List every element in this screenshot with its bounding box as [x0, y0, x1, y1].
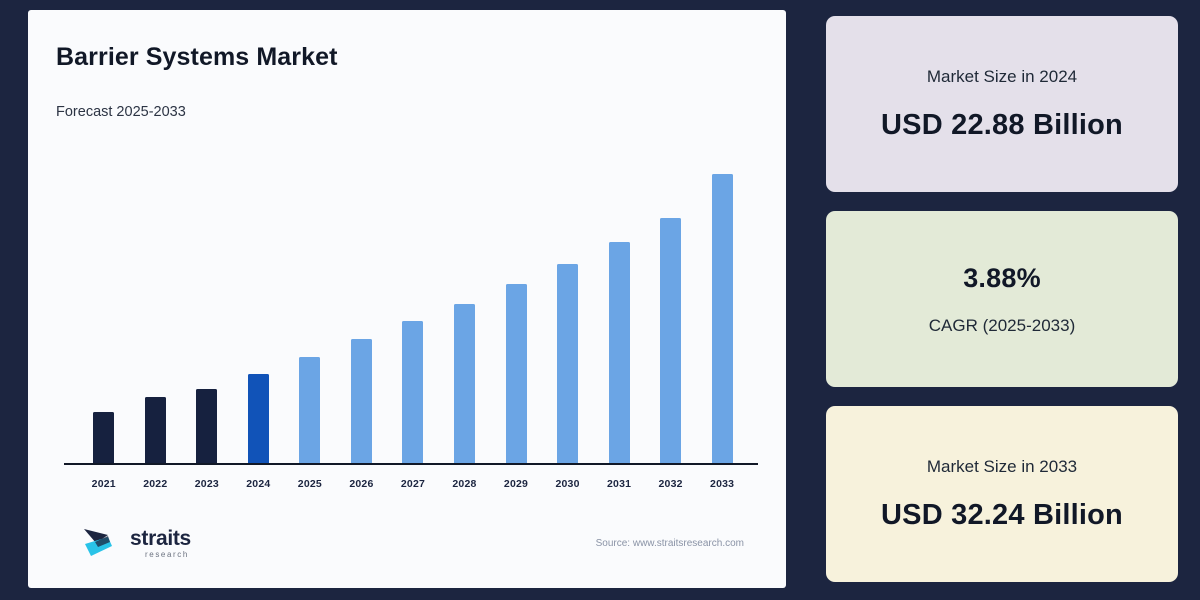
- bar-2024: [248, 374, 269, 464]
- bar-slot: [593, 130, 645, 465]
- x-tick-2033: 2033: [696, 478, 748, 490]
- bar-2025: [299, 357, 320, 464]
- stat-card-3: Market Size in 2033USD 32.24 Billion: [826, 406, 1178, 582]
- stat-card-value: USD 22.88 Billion: [881, 109, 1123, 142]
- bar-series: [78, 130, 748, 465]
- bar-slot: [439, 130, 491, 465]
- logo-name: straits: [130, 528, 191, 549]
- bar-2021: [93, 412, 114, 464]
- stat-cards-column: Market Size in 2024USD 22.88 Billion3.88…: [826, 10, 1178, 588]
- bar-2031: [609, 242, 630, 464]
- bar-2023: [196, 389, 217, 464]
- stat-card-value: 3.88%: [963, 263, 1041, 294]
- bar-2022: [145, 397, 166, 464]
- bar-slot: [490, 130, 542, 465]
- x-axis-tick-labels: 2021202220232024202520262027202820292030…: [78, 478, 748, 490]
- stat-card-1: Market Size in 2024USD 22.88 Billion: [826, 16, 1178, 192]
- x-tick-2026: 2026: [336, 478, 388, 490]
- page-title: Barrier Systems Market: [56, 44, 758, 72]
- bar-slot: [387, 130, 439, 465]
- infographic-root: Barrier Systems Market Forecast 2025-203…: [0, 0, 1200, 600]
- bar-slot: [645, 130, 697, 465]
- arrow-logo-icon: [82, 525, 122, 561]
- x-tick-2028: 2028: [439, 478, 491, 490]
- stat-card-label: Market Size in 2033: [927, 457, 1077, 477]
- bar-slot: [542, 130, 594, 465]
- bar-slot: [130, 130, 182, 465]
- logo-subtitle: research: [145, 551, 191, 559]
- x-tick-2025: 2025: [284, 478, 336, 490]
- bar-slot: [233, 130, 285, 465]
- bar-slot: [284, 130, 336, 465]
- chart-subtitle: Forecast 2025-2033: [56, 104, 758, 120]
- x-axis-line: [64, 463, 758, 466]
- bar-2032: [660, 218, 681, 464]
- logo-text: straits research: [130, 528, 191, 559]
- x-tick-2024: 2024: [233, 478, 285, 490]
- bar-2029: [506, 284, 527, 464]
- stat-card-2: 3.88%CAGR (2025-2033): [826, 211, 1178, 387]
- bar-2030: [557, 264, 578, 464]
- bar-slot: [336, 130, 388, 465]
- x-tick-2029: 2029: [490, 478, 542, 490]
- bar-slot: [696, 130, 748, 465]
- bar-2028: [454, 304, 475, 464]
- x-tick-2031: 2031: [593, 478, 645, 490]
- bar-2027: [402, 321, 423, 464]
- bar-slot: [181, 130, 233, 465]
- x-tick-2030: 2030: [542, 478, 594, 490]
- bar-chart-plot-area: 2021202220232024202520262027202820292030…: [56, 130, 758, 513]
- stat-card-label: CAGR (2025-2033): [929, 316, 1075, 336]
- chart-panel: Barrier Systems Market Forecast 2025-203…: [28, 10, 786, 588]
- bar-2026: [351, 339, 372, 464]
- x-tick-2021: 2021: [78, 478, 130, 490]
- bar-slot: [78, 130, 130, 465]
- source-attribution: Source: www.straitsresearch.com: [596, 538, 754, 549]
- x-tick-2023: 2023: [181, 478, 233, 490]
- bar-2033: [712, 174, 733, 464]
- straits-research-logo: straits research: [82, 525, 191, 561]
- x-tick-2032: 2032: [645, 478, 697, 490]
- x-tick-2022: 2022: [130, 478, 182, 490]
- x-tick-2027: 2027: [387, 478, 439, 490]
- chart-footer: straits research Source: www.straitsrese…: [56, 512, 758, 574]
- stat-card-label: Market Size in 2024: [927, 67, 1077, 87]
- stat-card-value: USD 32.24 Billion: [881, 499, 1123, 532]
